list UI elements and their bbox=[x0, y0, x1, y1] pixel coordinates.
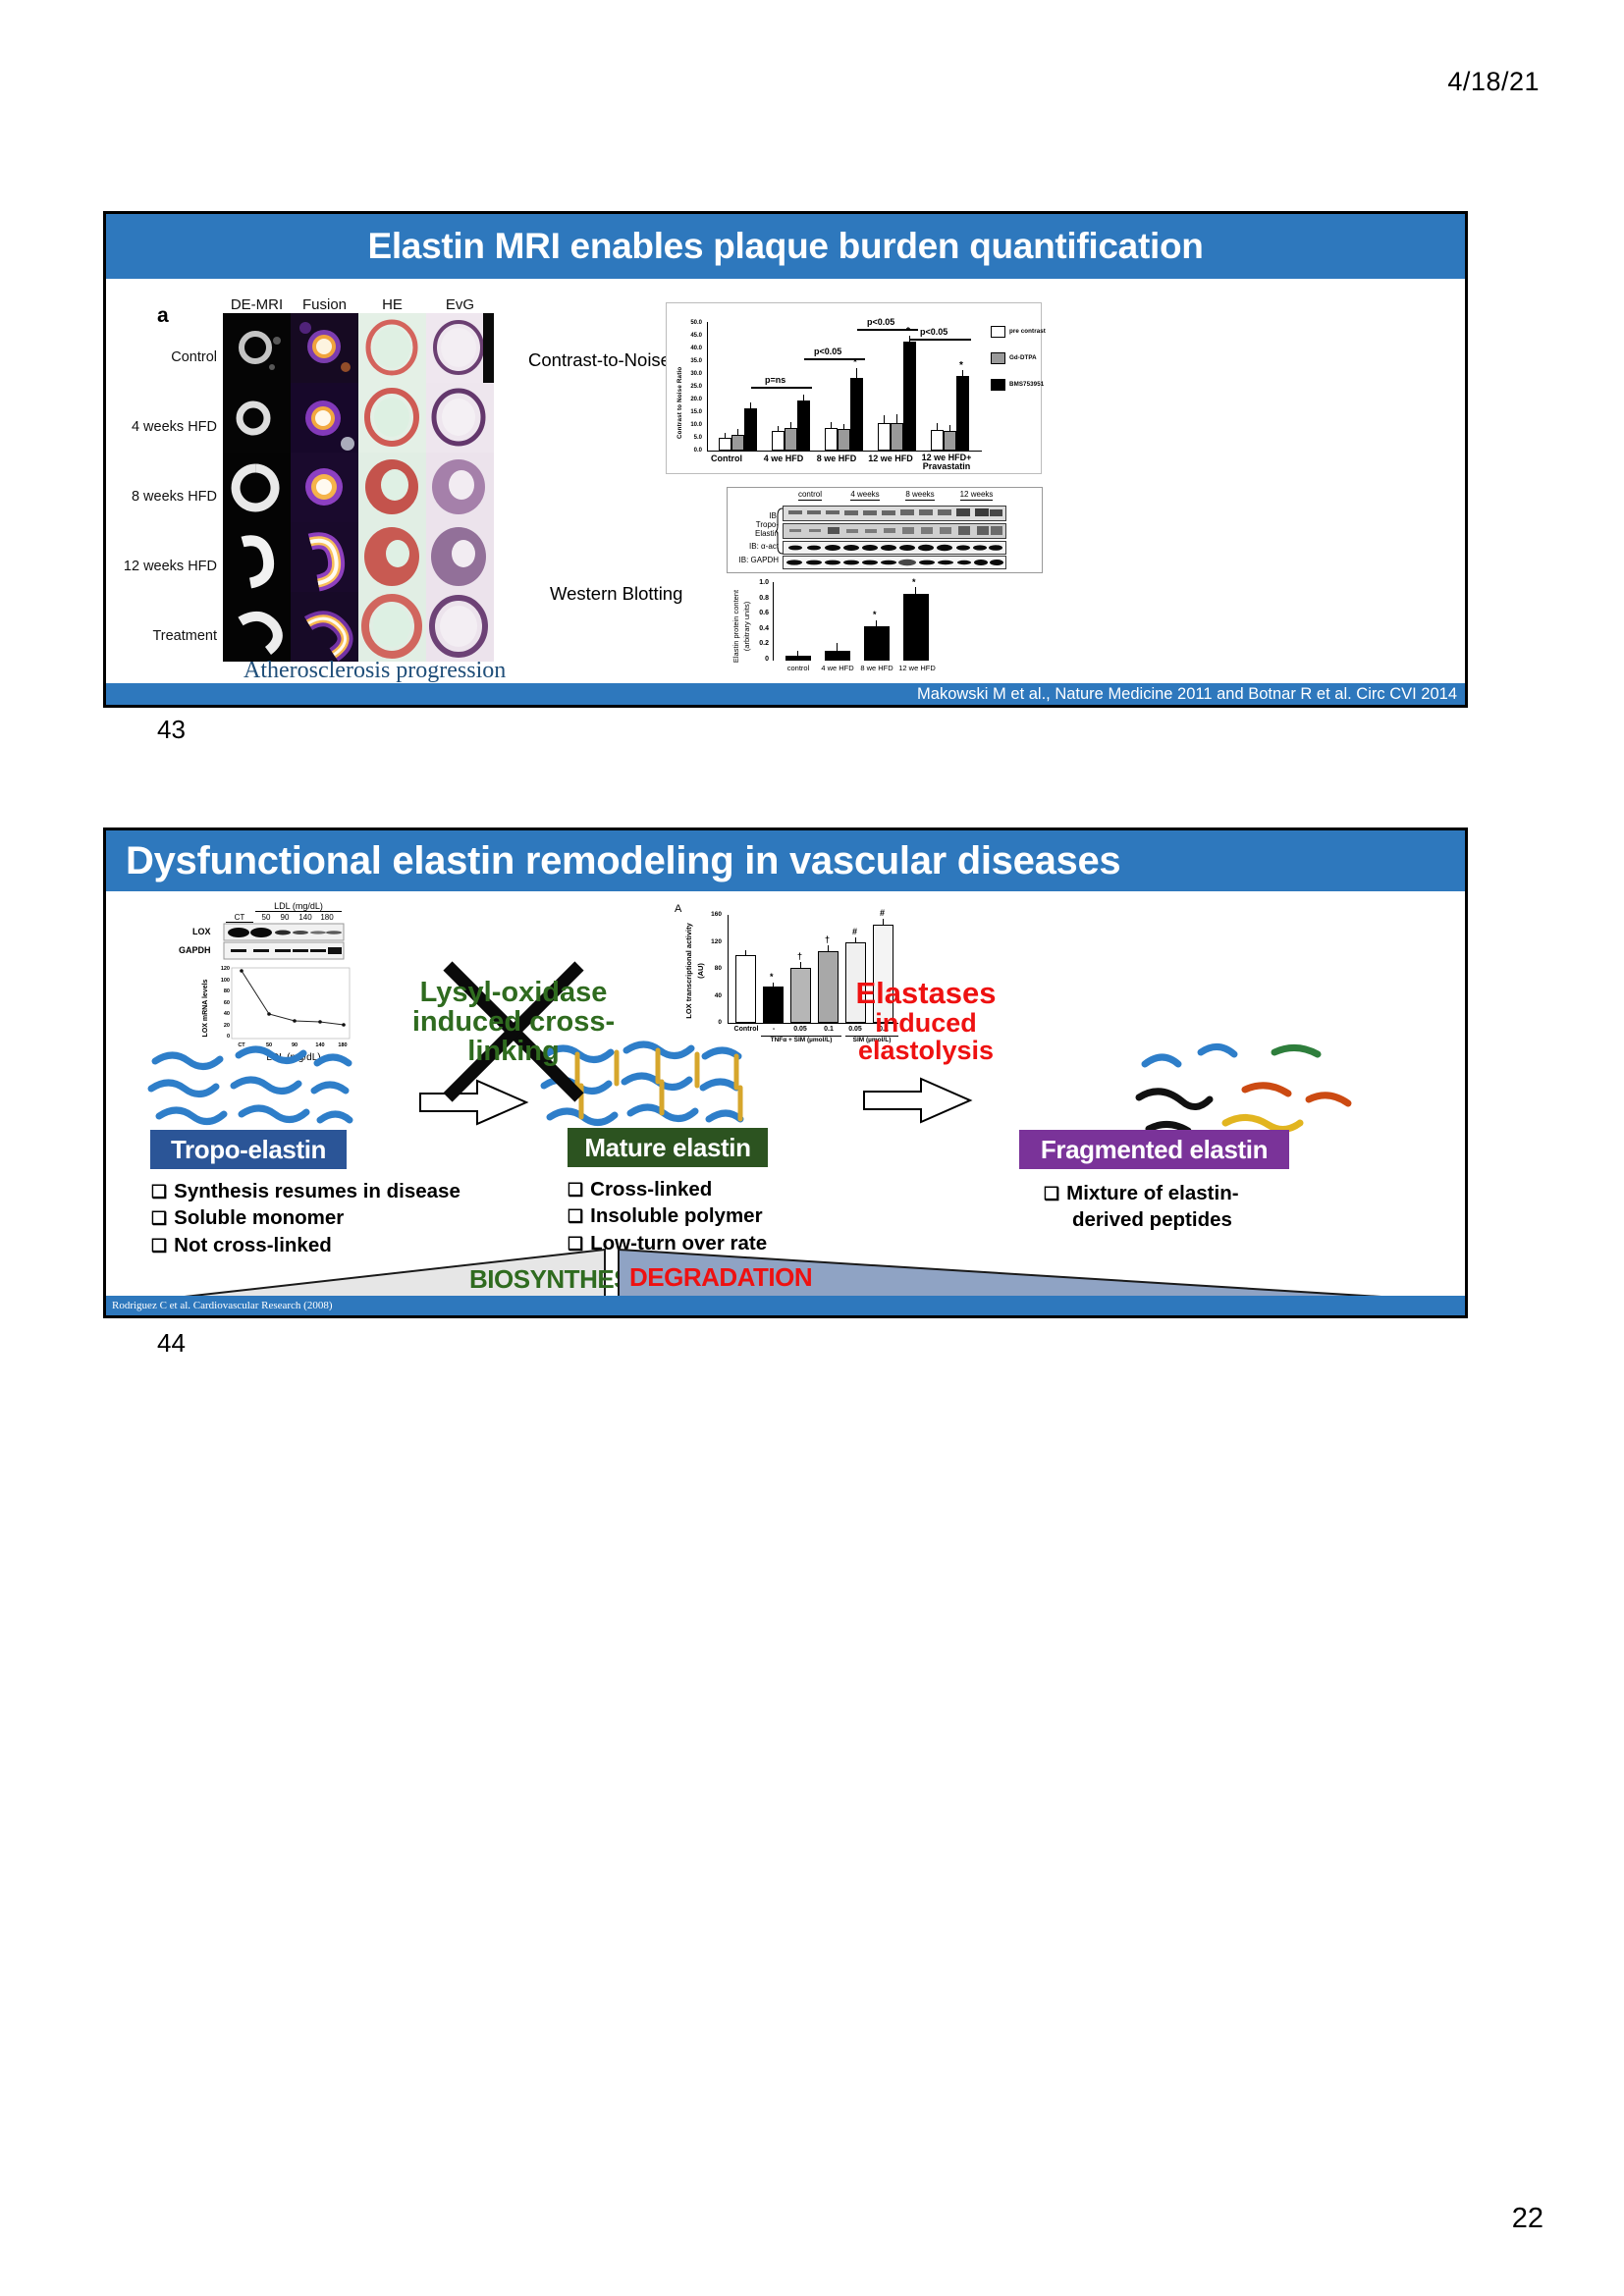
slide-43: Elastin MRI enables plaque burden quanti… bbox=[103, 211, 1468, 708]
cnr-bar-prava-bms bbox=[956, 376, 969, 452]
lox-ta-ytick-80: 80 bbox=[704, 965, 722, 972]
lox-ta-ytick-120: 120 bbox=[704, 938, 722, 945]
wb-header-12weeks: 12 weeks bbox=[949, 490, 1003, 499]
bullet-tropo-2: ❑Soluble monomer bbox=[151, 1204, 460, 1231]
cnr-legend-swatch-gd bbox=[991, 352, 1005, 364]
slide-44: Dysfunctional elastin remodeling in vasc… bbox=[103, 828, 1468, 1318]
lox-mrna-ytick-5: 100 bbox=[212, 978, 230, 984]
cnr-sigbar-4 bbox=[910, 339, 971, 341]
cnr-err-prava-gd bbox=[949, 425, 950, 431]
elastases-annotation-line-1: Elastases bbox=[828, 978, 1024, 1009]
cnr-bar-8we-pre bbox=[825, 428, 838, 451]
cnr-legend-swatch-pre bbox=[991, 326, 1005, 338]
ec-ytick-1: 0.2 bbox=[751, 640, 769, 647]
elastases-annotation: Elastases induced elastolysis bbox=[828, 978, 1024, 1064]
lox-mrna-ytick-4: 80 bbox=[212, 988, 230, 994]
lox-ta-xtick-dash: - bbox=[761, 1026, 786, 1033]
mri-cell-fusion-12w bbox=[291, 522, 358, 592]
fragmented-elastin-graphic bbox=[1127, 1039, 1373, 1142]
category-title-tropo-elastin: Tropo-elastin bbox=[171, 1135, 326, 1165]
wb-header-control: control bbox=[785, 490, 836, 499]
cnr-ytick-8: 40.0 bbox=[678, 346, 702, 351]
column-header-fusion: Fusion bbox=[291, 296, 358, 313]
slide-43-title: Elastin MRI enables plaque burden quanti… bbox=[106, 214, 1465, 279]
slide-number-44: 44 bbox=[157, 1328, 186, 1359]
cnr-siglabel-2: p<0.05 bbox=[814, 347, 841, 356]
mri-cell-evg-8w bbox=[426, 453, 494, 522]
lox-ta-xtick-control: Control bbox=[728, 1026, 765, 1033]
lox-ta-xtick-005a: 0.05 bbox=[785, 1026, 816, 1033]
cnr-legend-item-bms: BMS753951 bbox=[991, 376, 1046, 394]
contrast-to-noise-label: Contrast-to-Noise bbox=[528, 349, 671, 371]
western-blotting-label: Western Blotting bbox=[550, 583, 682, 605]
cnr-xtick-8we: 8 we HFD bbox=[811, 454, 862, 463]
cnr-err-control-gd bbox=[737, 429, 738, 436]
cnr-sigbar-1 bbox=[751, 387, 812, 389]
lox-ta-err-tnf-none bbox=[773, 983, 774, 988]
cnr-err-12we-gd bbox=[896, 414, 897, 423]
bullet-frag-1-text: Mixture of elastin- bbox=[1066, 1182, 1238, 1204]
lox-row-label-lox: LOX bbox=[192, 927, 211, 936]
lox-ta-err-tnf-01 bbox=[828, 945, 829, 952]
cnr-bar-4we-gd bbox=[785, 428, 797, 451]
mri-histology-grid bbox=[223, 313, 494, 662]
ec-bar-8we bbox=[864, 626, 890, 661]
lox-mrna-ytick-2: 40 bbox=[212, 1011, 230, 1017]
elastases-annotation-line-3: elastolysis bbox=[828, 1037, 1024, 1064]
lox-ta-marker-sim-01: # bbox=[880, 908, 885, 918]
lox-mrna-ytitle: LOX mRNA levels bbox=[202, 966, 209, 1050]
cnr-bar-12we-gd bbox=[891, 423, 903, 451]
arrow-elastolysis bbox=[862, 1076, 980, 1125]
category-box-mature-elastin: Mature elastin bbox=[568, 1128, 768, 1167]
cnr-bar-control-gd bbox=[731, 435, 744, 451]
bullet-tropo-1-text: Synthesis resumes in disease bbox=[174, 1180, 460, 1202]
cnr-legend-label-pre: pre contrast bbox=[1009, 328, 1046, 335]
wb-header-12weeks-text: 12 weeks bbox=[960, 490, 994, 501]
bullet-tropo-2-text: Soluble monomer bbox=[174, 1206, 344, 1229]
cnr-ytick-9: 45.0 bbox=[678, 333, 702, 339]
slide-44-footer: Rodriguez C et al. Cardiovascular Resear… bbox=[106, 1296, 1465, 1315]
cnr-bar-8we-gd bbox=[838, 429, 850, 452]
wb-strip-tropoelastin-2 bbox=[783, 523, 1006, 539]
ec-y-axis bbox=[773, 582, 774, 661]
bullet-frag-2-text: derived peptides bbox=[1072, 1208, 1232, 1231]
ec-bar-control bbox=[785, 656, 811, 661]
cnr-bar-12we-bms bbox=[903, 342, 916, 451]
mri-cell-he-4w bbox=[358, 383, 426, 453]
tropoelastin-fibres-graphic bbox=[145, 1041, 381, 1140]
wb-header-8weeks-text: 8 weeks bbox=[905, 490, 934, 501]
ec-xtick-8we: 8 we HFD bbox=[855, 664, 898, 672]
mri-cell-fusion-treatment bbox=[291, 592, 358, 662]
cnr-ytick-7: 35.0 bbox=[678, 358, 702, 364]
western-blot-panel: control 4 weeks 8 weeks 12 weeks IB: Tro… bbox=[727, 487, 1043, 573]
category-box-fragmented-elastin: Fragmented elastin bbox=[1019, 1130, 1289, 1169]
cnr-siglabel-4: p<0.05 bbox=[920, 327, 947, 337]
lox-ta-ytitle: LOX transcriptional activity bbox=[684, 907, 693, 1035]
ec-xtick-control: control bbox=[779, 664, 818, 672]
slide-number-43: 43 bbox=[157, 715, 186, 745]
lox-ta-err-tnf-005 bbox=[800, 962, 801, 968]
panel-letter-a: a bbox=[157, 304, 169, 328]
lox-ta-marker-sim-005: # bbox=[852, 927, 857, 936]
lox-lane-50: 50 bbox=[257, 913, 275, 922]
row-label-8-weeks-hfd: 8 weeks HFD bbox=[101, 489, 217, 505]
cnr-xtick-control: Control bbox=[703, 454, 750, 463]
wb-strip-tropoelastin-1 bbox=[783, 506, 1006, 521]
cnr-ytick-4: 20.0 bbox=[678, 397, 702, 402]
bullet-tropo-1: ❑Synthesis resumes in disease bbox=[151, 1178, 460, 1204]
column-header-he: HE bbox=[358, 296, 426, 313]
lox-lane-180: 180 bbox=[316, 913, 338, 922]
lox-ta-marker-tnf-005: † bbox=[797, 951, 802, 961]
mri-cell-de-mri-control bbox=[223, 313, 291, 383]
bullet-list-mature-elastin: ❑Cross-linked ❑Insoluble polymer ❑Low-tu… bbox=[568, 1176, 767, 1256]
lox-ta-marker-tnf-none: * bbox=[770, 972, 774, 982]
lox-ta-bar-tnf-none bbox=[763, 987, 784, 1023]
bullet-square-icon: ❑ bbox=[568, 1180, 583, 1200]
cnr-ytick-2: 10.0 bbox=[678, 422, 702, 428]
row-label-control: Control bbox=[101, 349, 217, 365]
cnr-star-prava: * bbox=[959, 360, 963, 371]
cnr-ytick-10: 50.0 bbox=[678, 320, 702, 326]
mri-cell-fusion-control bbox=[291, 313, 358, 383]
cnr-err-12we-pre bbox=[884, 415, 885, 424]
mri-cell-fusion-8w bbox=[291, 453, 358, 522]
mri-cell-evg-4w bbox=[426, 383, 494, 453]
gapdh-blot-strip bbox=[224, 942, 344, 959]
wb-rowlabel-aact: IB: α-act bbox=[726, 543, 779, 551]
mri-cell-he-treatment bbox=[358, 592, 426, 662]
cnr-sigbar-2 bbox=[804, 358, 865, 360]
cnr-bar-control-pre bbox=[719, 438, 731, 451]
chart-elastin-protein-content: Elastin protein content (arbitrary units… bbox=[730, 579, 950, 687]
cnr-siglabel-1: p=ns bbox=[765, 375, 785, 385]
cnr-err-control-bms bbox=[750, 402, 751, 409]
lox-ta-err-control bbox=[745, 950, 746, 956]
ec-err-8we bbox=[876, 620, 877, 628]
slide-44-footer-text: Rodriguez C et al. Cardiovascular Resear… bbox=[112, 1300, 333, 1311]
bullet-frag-2: derived peptides bbox=[1044, 1206, 1239, 1233]
ec-ytick-5: 1.0 bbox=[751, 579, 769, 586]
lox-mrna-ytick-3: 60 bbox=[212, 1000, 230, 1006]
cnr-bar-control-bms bbox=[744, 408, 757, 451]
lox-ta-bar-tnf-005 bbox=[790, 968, 811, 1023]
mri-cell-he-control bbox=[358, 313, 426, 383]
wb-header-8weeks: 8 weeks bbox=[894, 490, 946, 499]
lox-annotation-line-2: induced cross- bbox=[391, 1007, 636, 1037]
lox-ta-err-sim-005 bbox=[855, 937, 856, 942]
lox-mrna-ytick-0: 0 bbox=[212, 1034, 230, 1040]
lox-annotation-line-3: linking bbox=[391, 1037, 636, 1066]
ec-bar-4we bbox=[825, 651, 850, 661]
cnr-ytick-1: 5.0 bbox=[678, 435, 702, 441]
bullet-mature-2: ❑Insoluble polymer bbox=[568, 1202, 767, 1229]
lox-ta-y-axis bbox=[728, 915, 729, 1023]
ec-bar-12we bbox=[903, 594, 929, 661]
ec-ytick-3: 0.6 bbox=[751, 610, 769, 616]
slide-44-title: Dysfunctional elastin remodeling in vasc… bbox=[106, 830, 1465, 891]
category-title-mature-elastin: Mature elastin bbox=[584, 1133, 750, 1163]
row-label-treatment: Treatment bbox=[101, 628, 217, 644]
cnr-bar-8we-bms bbox=[850, 378, 863, 451]
row-label-4-weeks-hfd: 4 weeks HFD bbox=[101, 419, 217, 435]
lox-lane-140: 140 bbox=[295, 913, 316, 922]
category-title-fragmented-elastin: Fragmented elastin bbox=[1041, 1135, 1268, 1165]
column-header-evg: EvG bbox=[426, 296, 494, 313]
page-date: 4/18/21 bbox=[1447, 67, 1540, 97]
mri-cell-evg-12w bbox=[426, 522, 494, 592]
wb-header-4weeks-text: 4 weeks bbox=[850, 490, 879, 501]
lox-lane-ct: CT bbox=[226, 913, 253, 923]
cnr-err-prava-pre bbox=[937, 423, 938, 430]
bullet-mature-2-text: Insoluble polymer bbox=[590, 1204, 762, 1227]
bullet-square-icon: ❑ bbox=[151, 1182, 167, 1201]
cnr-err-8we-bms bbox=[856, 368, 857, 379]
lox-lane-90: 90 bbox=[276, 913, 294, 922]
bullet-frag-1: ❑Mixture of elastin- bbox=[1044, 1180, 1239, 1206]
cnr-x-axis bbox=[707, 451, 982, 452]
cnr-bar-prava-gd bbox=[944, 431, 956, 451]
row-label-12-weeks-hfd: 12 weeks HFD bbox=[101, 559, 217, 574]
ec-xtick-4we: 4 we HFD bbox=[816, 664, 859, 672]
cnr-star-12we: * bbox=[906, 326, 910, 337]
wb-bracket-icon bbox=[776, 507, 784, 555]
bullet-mature-1-text: Cross-linked bbox=[590, 1178, 712, 1201]
cnr-legend-item-gd: Gd-DTPA bbox=[991, 349, 1046, 367]
cnr-sigbar-3 bbox=[857, 329, 918, 331]
cnr-err-8we-pre bbox=[831, 422, 832, 429]
cnr-err-4we-pre bbox=[778, 426, 779, 432]
category-box-tropo-elastin: Tropo-elastin bbox=[150, 1130, 347, 1169]
ec-star-12we: * bbox=[912, 577, 916, 587]
ec-err-4we bbox=[837, 643, 838, 652]
cnr-legend-label-bms: BMS753951 bbox=[1009, 381, 1044, 388]
mri-cell-evg-treatment bbox=[426, 592, 494, 662]
wb-header-control-text: control bbox=[798, 490, 822, 501]
lox-annotation-line-1: Lysyl-oxidase bbox=[391, 978, 636, 1007]
degradation-label: DEGRADATION bbox=[629, 1262, 812, 1293]
wb-header-4weeks: 4 weeks bbox=[839, 490, 891, 499]
cnr-xtick-prava: 12 we HFD+ Pravastatin bbox=[916, 454, 977, 472]
lox-ta-bar-control bbox=[735, 955, 756, 1023]
cnr-siglabel-3: p<0.05 bbox=[867, 317, 894, 327]
slide-43-footer: Makowski M et al., Nature Medicine 2011 … bbox=[106, 683, 1465, 705]
mri-cell-de-mri-12w bbox=[223, 522, 291, 592]
ec-y-axis-subtitle: (arbitrary units) bbox=[742, 579, 751, 673]
lox-ta-marker-tnf-01: † bbox=[825, 934, 830, 944]
wb-strip-alpha-actin bbox=[783, 541, 1006, 555]
slide-43-footer-text: Makowski M et al., Nature Medicine 2011 … bbox=[917, 685, 1457, 704]
cnr-legend: pre contrast Gd-DTPA BMS753951 bbox=[991, 323, 1046, 394]
bullet-square-icon: ❑ bbox=[568, 1206, 583, 1226]
lox-mrna-ytick-6: 120 bbox=[212, 966, 230, 972]
cnr-err-8we-gd bbox=[843, 424, 844, 430]
bullet-mature-1: ❑Cross-linked bbox=[568, 1176, 767, 1202]
lox-mrna-ytick-1: 20 bbox=[212, 1023, 230, 1029]
lox-ta-err-sim-01 bbox=[883, 919, 884, 925]
mri-cell-de-mri-8w bbox=[223, 453, 291, 522]
ec-ytick-2: 0.4 bbox=[751, 625, 769, 632]
wb-rowlabel-elastin: Elastin bbox=[726, 530, 779, 538]
wb-rowlabel-gapdh: IB: GAPDH bbox=[720, 557, 779, 564]
bullet-square-icon: ❑ bbox=[151, 1208, 167, 1228]
ec-err-control bbox=[797, 651, 798, 657]
cnr-err-4we-bms bbox=[803, 395, 804, 401]
wb-strip-gapdh bbox=[783, 556, 1006, 569]
cnr-bar-4we-bms bbox=[797, 400, 810, 451]
ec-err-12we bbox=[915, 587, 916, 596]
bullet-square-icon: ❑ bbox=[1044, 1184, 1059, 1203]
lox-mrna-plot bbox=[232, 968, 350, 1041]
column-header-de-mri: DE-MRI bbox=[223, 296, 291, 313]
cnr-ytick-0: 0.0 bbox=[678, 448, 702, 454]
ec-ytick-4: 0.8 bbox=[751, 595, 769, 602]
lox-blot-header: LDL (mg/dL) bbox=[255, 901, 342, 912]
cnr-ytick-3: 15.0 bbox=[678, 409, 702, 415]
cnr-y-axis bbox=[707, 322, 708, 452]
lox-ta-panel-letter: A bbox=[675, 903, 681, 915]
mri-cell-de-mri-treatment bbox=[223, 592, 291, 662]
mri-cell-he-8w bbox=[358, 453, 426, 522]
cnr-legend-item-pre: pre contrast bbox=[991, 323, 1046, 341]
lox-ta-ytick-40: 40 bbox=[704, 992, 722, 999]
chart-contrast-to-noise: Contrast to Noise Ratio 0.0 5.0 10.0 15.… bbox=[666, 302, 1042, 474]
cnr-legend-swatch-bms bbox=[991, 379, 1005, 391]
mri-cell-de-mri-4w bbox=[223, 383, 291, 453]
lox-crosslinking-annotation: Lysyl-oxidase induced cross- linking bbox=[391, 978, 636, 1066]
atherosclerosis-progression-label: Atherosclerosis progression bbox=[244, 658, 506, 684]
cnr-xtick-12we: 12 we HFD bbox=[863, 454, 918, 463]
mri-cell-he-12w bbox=[358, 522, 426, 592]
cnr-bar-prava-pre bbox=[931, 430, 944, 452]
lox-row-label-gapdh: GAPDH bbox=[179, 945, 211, 955]
mri-cell-fusion-4w bbox=[291, 383, 358, 453]
ec-star-8we: * bbox=[873, 610, 877, 619]
mri-cell-evg-control bbox=[426, 313, 494, 383]
lox-ta-ytick-160: 160 bbox=[704, 911, 722, 918]
elastases-annotation-line-2: induced bbox=[828, 1009, 1024, 1037]
cnr-xtick-4we: 4 we HFD bbox=[758, 454, 809, 463]
cnr-ytick-5: 25.0 bbox=[678, 384, 702, 390]
cnr-ytick-6: 30.0 bbox=[678, 371, 702, 377]
ec-ytick-0: 0 bbox=[751, 656, 769, 663]
lox-blot-strip bbox=[224, 924, 344, 940]
lox-ta-ytick-0: 0 bbox=[704, 1019, 722, 1026]
cnr-err-4we-gd bbox=[790, 422, 791, 429]
cnr-y-axis-title: Contrast to Noise Ratio bbox=[677, 367, 683, 439]
cnr-err-control-pre bbox=[725, 433, 726, 439]
cnr-bar-4we-pre bbox=[772, 431, 785, 451]
cnr-bar-12we-pre bbox=[878, 423, 891, 451]
ec-y-axis-title: Elastin protein content bbox=[731, 579, 740, 673]
bullet-list-fragmented-elastin: ❑Mixture of elastin- derived peptides bbox=[1044, 1180, 1239, 1234]
cnr-legend-label-gd: Gd-DTPA bbox=[1009, 354, 1037, 361]
ec-xtick-12we: 12 we HFD bbox=[893, 664, 941, 672]
page-number: 22 bbox=[1512, 2203, 1543, 2235]
